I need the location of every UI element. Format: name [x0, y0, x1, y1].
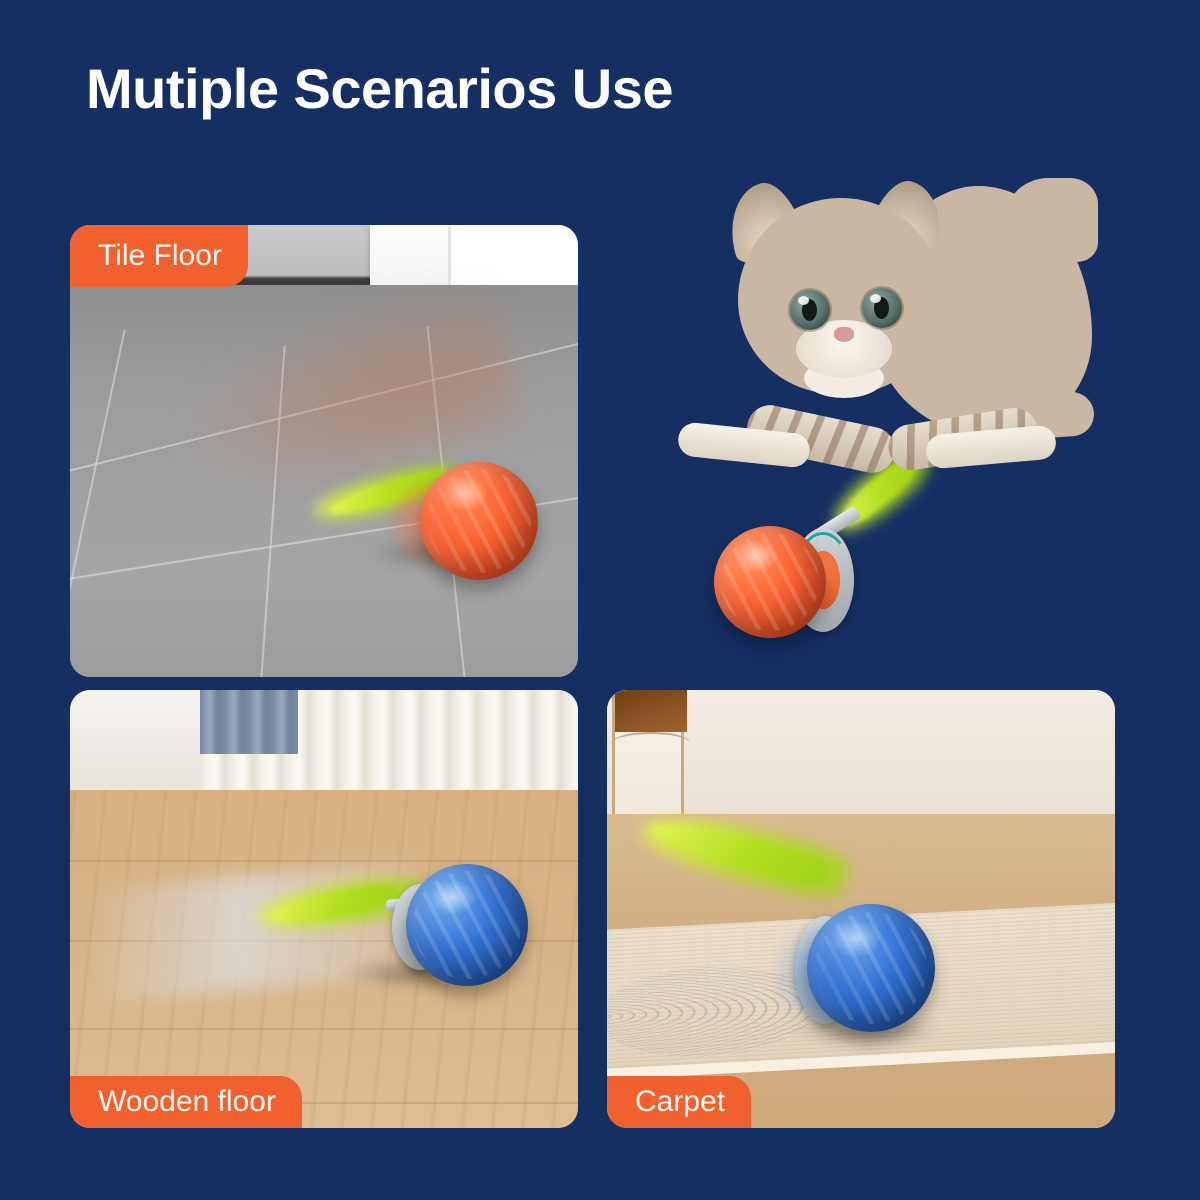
framed-picture	[612, 690, 684, 824]
ball-blue	[406, 864, 528, 986]
badge-wooden-floor: Wooden floor	[70, 1076, 302, 1128]
tile-floor-scene	[70, 225, 578, 677]
ball-orange	[714, 526, 826, 638]
wall	[70, 690, 200, 800]
eye-highlight	[870, 294, 881, 303]
ball-motion-ghost	[775, 918, 871, 1030]
product-ball-wooden	[246, 842, 526, 1002]
wooden-floor-scene	[70, 690, 578, 1128]
badge-label: Carpet	[635, 1085, 725, 1119]
picture-line	[611, 732, 691, 756]
product-ball-tile	[320, 420, 560, 580]
badge-label: Wooden floor	[98, 1085, 276, 1119]
scenario-panel-tile: Tile Floor	[70, 225, 578, 677]
cat-nose	[834, 327, 854, 342]
badge-label: Tile Floor	[98, 239, 222, 273]
hero-product-ball	[706, 470, 936, 650]
ball-motion-ghost	[392, 480, 476, 568]
page-title: Mutiple Scenarios Use	[86, 58, 673, 120]
ball-highlight	[734, 539, 779, 573]
cat-eye-right	[862, 288, 902, 328]
tile-grout-line	[70, 329, 126, 677]
marketing-page: Mutiple Scenarios Use	[0, 0, 1200, 1200]
scenario-panel-carpet: Carpet	[607, 690, 1115, 1128]
plank-seam	[70, 1028, 578, 1030]
carpet-scene	[607, 690, 1115, 1128]
cat-eye-left	[790, 290, 830, 330]
scenario-panel-wooden: Wooden floor	[70, 690, 578, 1128]
kitten-illustration	[676, 172, 1096, 472]
product-ball-carpet	[617, 820, 957, 1050]
picture-art	[615, 690, 687, 732]
ball-highlight	[428, 879, 477, 916]
eye-highlight	[798, 296, 809, 305]
badge-carpet: Carpet	[607, 1076, 751, 1128]
badge-tile-floor: Tile Floor	[70, 225, 248, 287]
